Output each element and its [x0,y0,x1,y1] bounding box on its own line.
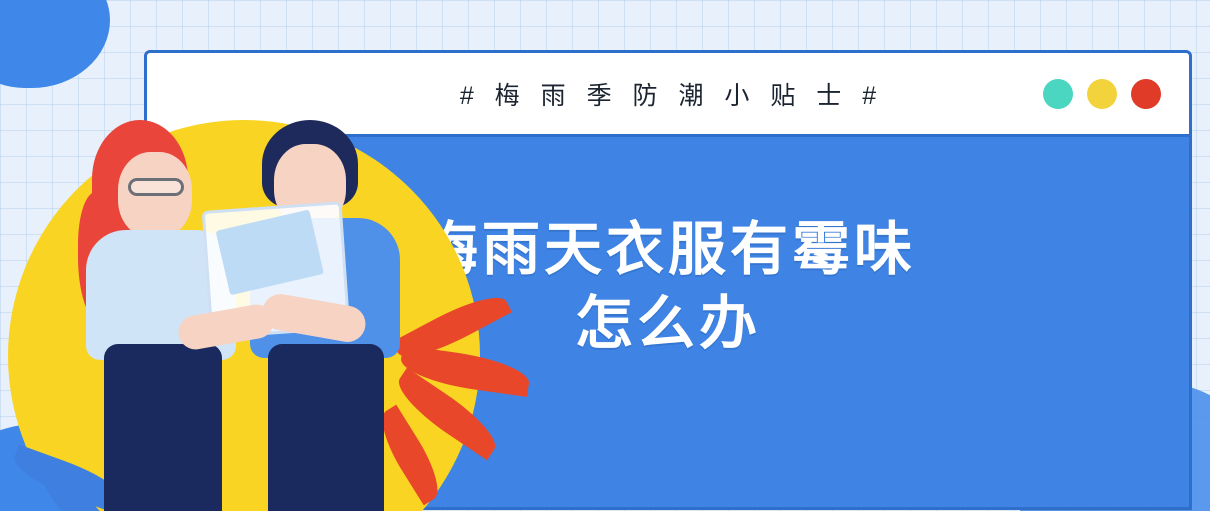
laundry-basket-cloth [216,209,324,295]
window-dot-teal-icon[interactable] [1043,79,1073,109]
window-dot-red-icon[interactable] [1131,79,1161,109]
person-left-legs [104,344,222,511]
person-left-glasses-icon [128,178,184,196]
window-controls [1043,79,1161,109]
banner-image: # 梅 雨 季 防 潮 小 贴 士 # 梅雨天衣服有霉味 怎么办 [0,0,1210,511]
illustration [0,72,520,511]
person-right-legs [268,344,384,511]
window-dot-yellow-icon[interactable] [1087,79,1117,109]
